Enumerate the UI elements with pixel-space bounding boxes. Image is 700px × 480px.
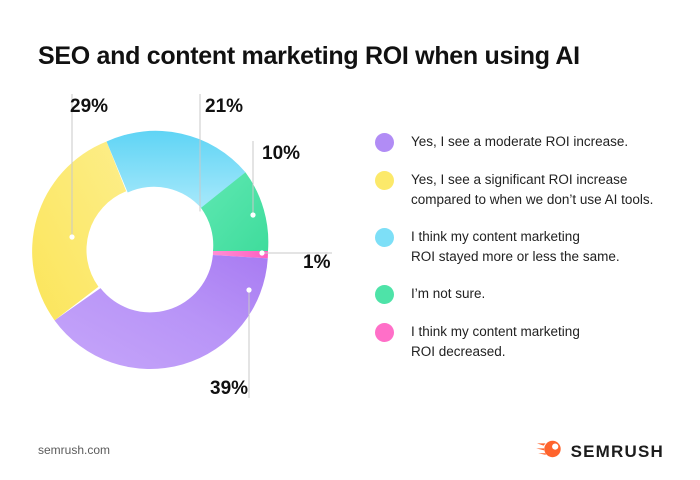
legend-swatch-icon [375, 228, 394, 247]
legend-item-significant-increase[interactable]: Yes, I see a significant ROI increase co… [375, 170, 675, 209]
donut-slices [32, 131, 268, 369]
infographic-canvas: SEO and content marketing ROI when using… [0, 0, 700, 480]
data-label-not-sure: 10% [262, 143, 300, 165]
legend-item-not-sure[interactable]: I’m not sure. [375, 284, 675, 304]
semrush-wordmark: SEMRUSH [571, 442, 664, 462]
leader-dot-29 [69, 234, 74, 239]
data-label-significant-increase: 29% [70, 96, 108, 118]
source-url[interactable]: semrush.com [38, 443, 110, 457]
legend-item-label: I think my content marketing ROI stayed … [411, 227, 620, 266]
semrush-brand-logo: SEMRUSH [536, 439, 664, 464]
legend-item-label: I think my content marketing ROI decreas… [411, 322, 580, 361]
legend-swatch-icon [375, 285, 394, 304]
legend-swatch-icon [375, 133, 394, 152]
donut-chart: 39% 29% 21% 10% 1% [0, 0, 380, 430]
slice-significant-increase[interactable] [32, 142, 126, 321]
legend-item-label: Yes, I see a moderate ROI increase. [411, 132, 628, 152]
legend-item-label: I’m not sure. [411, 284, 485, 304]
legend-item-roi-same[interactable]: I think my content marketing ROI stayed … [375, 227, 675, 266]
data-label-roi-same: 21% [205, 96, 243, 118]
data-label-roi-decreased: 1% [303, 252, 330, 274]
legend-item-label: Yes, I see a significant ROI increase co… [411, 170, 653, 209]
legend-item-roi-decreased[interactable]: I think my content marketing ROI decreas… [375, 322, 675, 361]
leader-dot-10 [250, 212, 255, 217]
leader-dot-1 [259, 250, 264, 255]
semrush-comet-icon [536, 439, 562, 464]
legend-item-moderate-increase[interactable]: Yes, I see a moderate ROI increase. [375, 132, 675, 152]
leader-dot-39 [246, 287, 251, 292]
chart-legend: Yes, I see a moderate ROI increase. Yes,… [375, 132, 675, 379]
donut-chart-svg [0, 0, 380, 430]
legend-swatch-icon [375, 171, 394, 190]
data-label-moderate-increase: 39% [210, 378, 248, 400]
legend-swatch-icon [375, 323, 394, 342]
leader-dot-21 [197, 211, 202, 216]
